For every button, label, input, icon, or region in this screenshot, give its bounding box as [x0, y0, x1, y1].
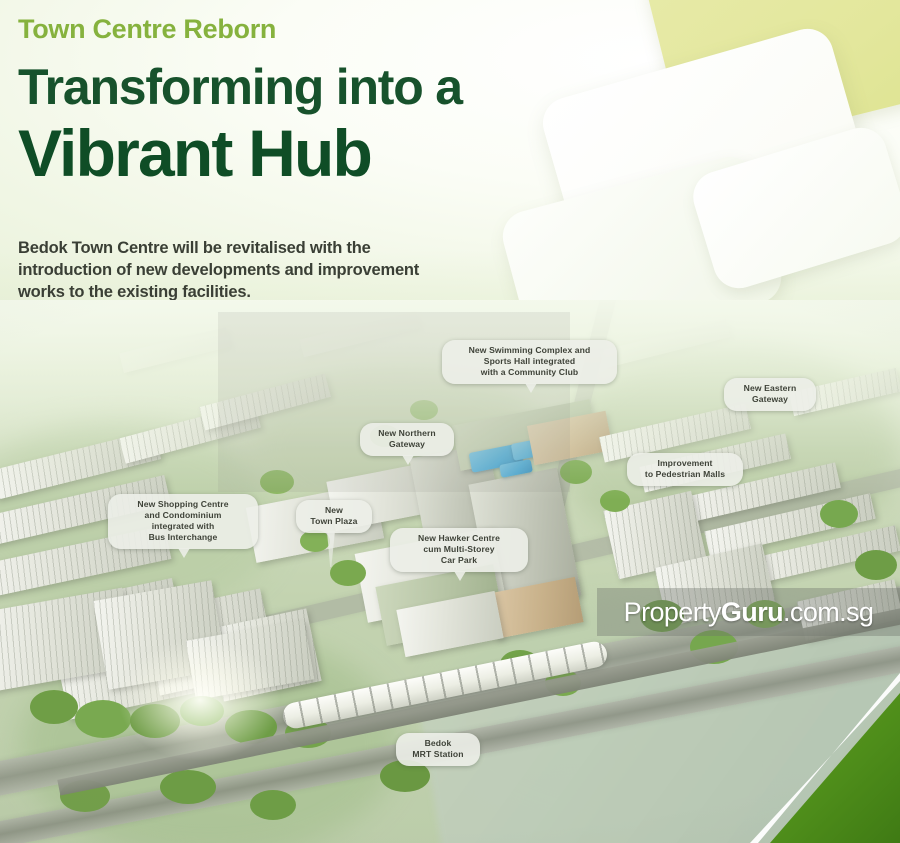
callout-hawker-centre[interactable]: New Hawker Centre cum Multi-Storey Car P…: [390, 528, 528, 572]
watermark-text: PropertyGuru.com.sg: [624, 597, 874, 628]
poster-root: Town Centre Reborn Transforming into a V…: [0, 0, 900, 843]
watermark-part-domain: .com.sg: [783, 597, 873, 627]
callout-eastern-gateway[interactable]: New Eastern Gateway: [724, 378, 816, 411]
callout-mrt-station[interactable]: Bedok MRT Station: [396, 733, 480, 766]
callout-pedestrian-malls[interactable]: Improvement to Pedestrian Malls: [627, 453, 743, 486]
watermark-part-property: Property: [624, 597, 721, 627]
propertyguru-watermark: PropertyGuru.com.sg: [597, 588, 900, 636]
body-blurb: Bedok Town Centre will be revitalised wi…: [18, 238, 468, 303]
callout-northern-gateway[interactable]: New Northern Gateway: [360, 423, 454, 456]
headline-line-2: Vibrant Hub: [18, 120, 371, 186]
watermark-part-guru: Guru: [721, 597, 783, 627]
grey-overlay-rect: [218, 312, 570, 492]
eyebrow-text: Town Centre Reborn: [18, 14, 276, 45]
headline-line-1: Transforming into a: [18, 62, 462, 112]
callout-shopping-centre[interactable]: New Shopping Centre and Condominium inte…: [108, 494, 258, 549]
callout-town-plaza[interactable]: New Town Plaza: [296, 500, 372, 533]
callout-swimming-complex[interactable]: New Swimming Complex and Sports Hall int…: [442, 340, 617, 384]
